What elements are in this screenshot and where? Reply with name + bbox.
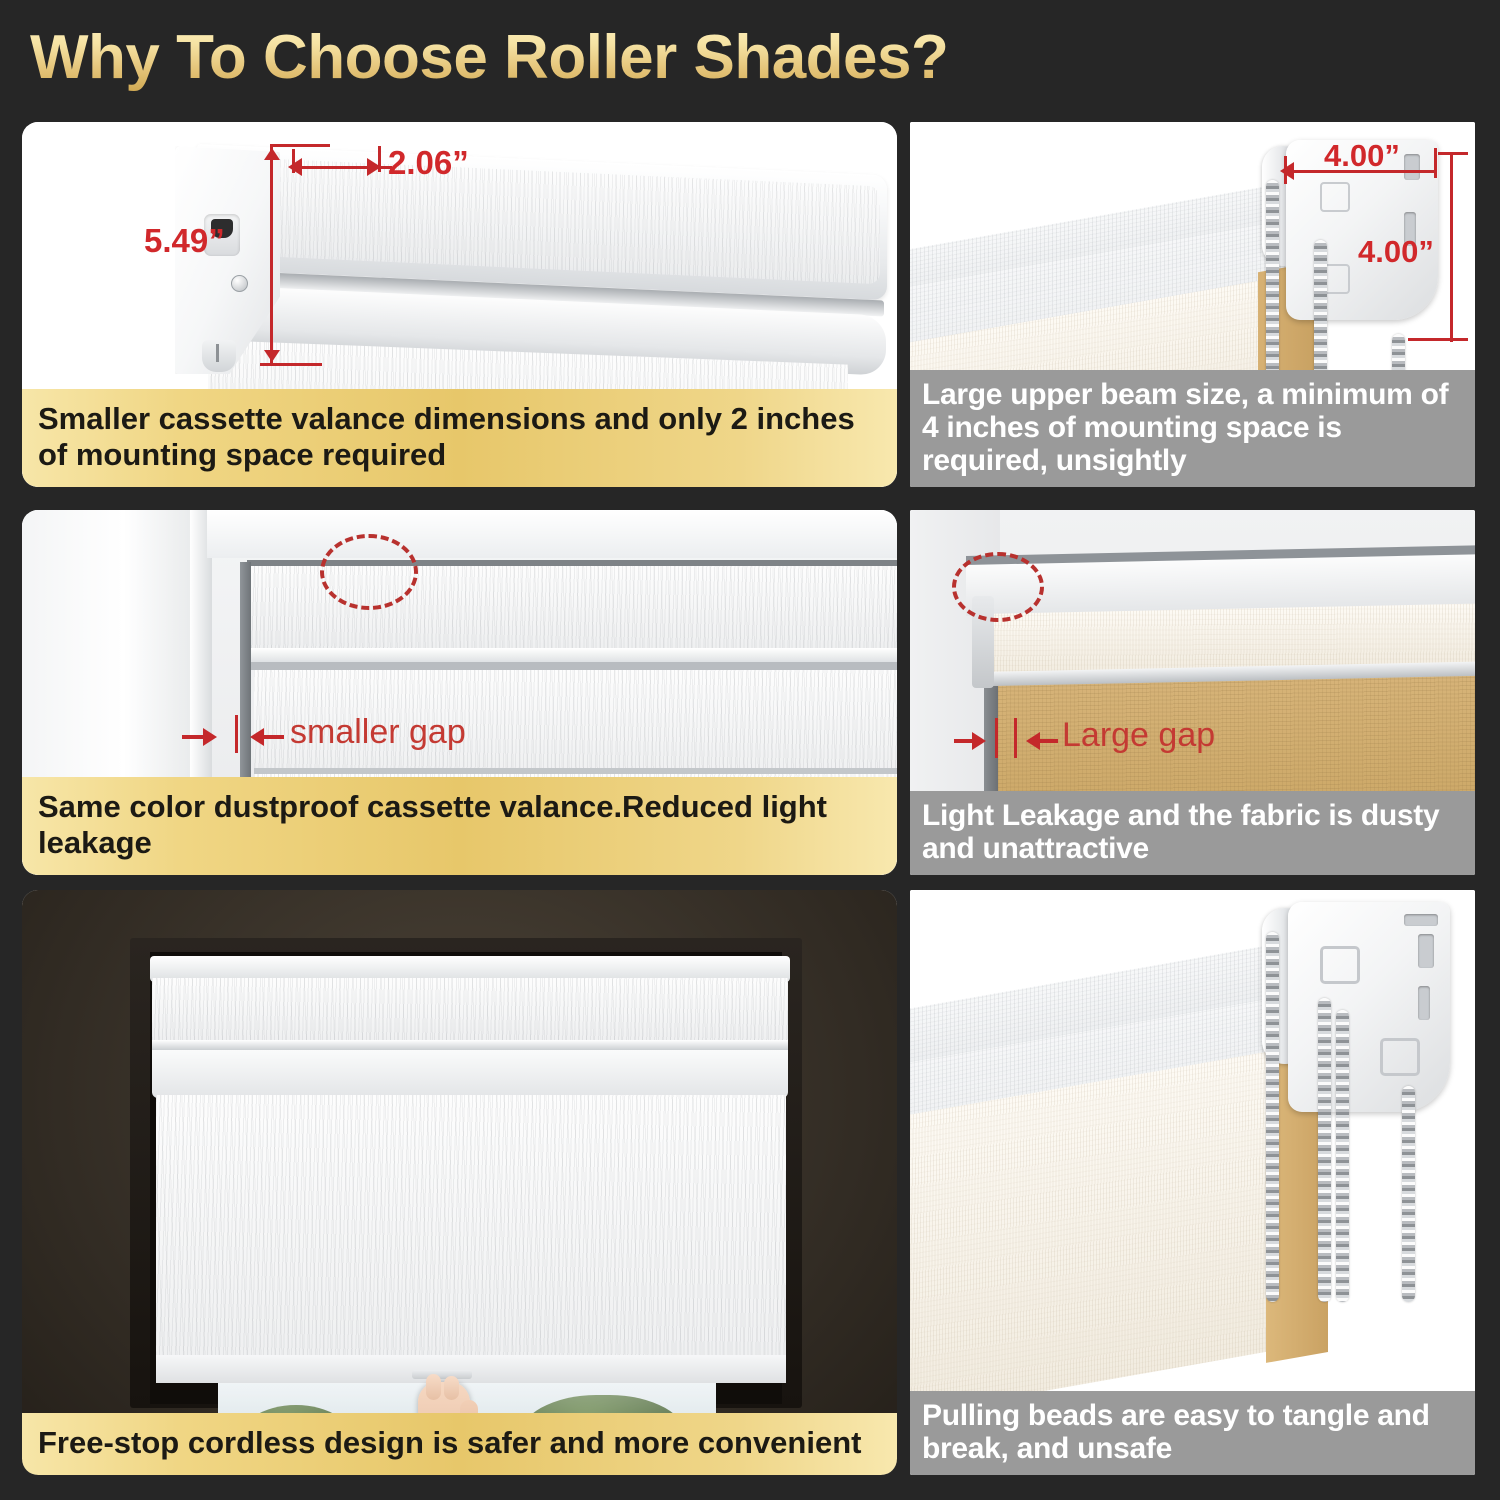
panel-pulling-beads: Pulling beads are easy to tangle and bre… xyxy=(910,890,1475,1475)
bead-chain-4 xyxy=(1402,1086,1415,1302)
panel-large-gap-caption: Light Leakage and the fabric is dusty an… xyxy=(910,791,1475,875)
dim-arrow-right-width xyxy=(367,158,381,176)
highlight-ring-large-gap xyxy=(952,552,1044,622)
gap-label: smaller gap xyxy=(290,713,466,752)
dimension-width-label: 2.06” xyxy=(388,144,469,182)
bead-chain-1 xyxy=(1266,932,1279,1302)
panel-cordless-design-caption: Free-stop cordless design is safer and m… xyxy=(22,1413,897,1475)
dimension-height-label: 5.49” xyxy=(144,222,225,260)
dimension-width-label: 4.00” xyxy=(1324,138,1400,174)
panel-large-upper-beam: 4.00” 4.00” Large upper beam size, a min… xyxy=(910,122,1475,487)
highlight-ring-smaller-gap xyxy=(320,534,418,610)
gap-label: Large gap xyxy=(1062,716,1215,755)
dim-arrow-up-height xyxy=(264,148,280,160)
panel-cassette-dimensions: 2.06” 5.49” Smaller cassette valance dim… xyxy=(22,122,897,487)
dimension-height-label: 4.00” xyxy=(1358,234,1434,270)
dim-arrow-down-height xyxy=(264,350,280,362)
bead-chain-2 xyxy=(1318,998,1331,1302)
panel-pulling-beads-caption: Pulling beads are easy to tangle and bre… xyxy=(910,1391,1475,1475)
page-title: Why To Choose Roller Shades? xyxy=(30,22,1130,94)
panel-cordless-design: Free-stop cordless design is safer and m… xyxy=(22,890,897,1475)
panel-large-gap: Large gap Light Leakage and the fabric i… xyxy=(910,510,1475,875)
panel-smaller-gap: smaller gap Same color dustproof cassett… xyxy=(22,510,897,875)
panel-smaller-gap-caption: Same color dustproof cassette valance.Re… xyxy=(22,777,897,875)
panel-large-upper-beam-caption: Large upper beam size, a minimum of 4 in… xyxy=(910,370,1475,487)
cordless-design-photo xyxy=(22,890,897,1475)
pulling-beads-photo xyxy=(910,890,1475,1475)
dim-arrow-left-width xyxy=(288,158,302,176)
panel-cassette-dimensions-caption: Smaller cassette valance dimensions and … xyxy=(22,389,897,487)
bead-chain-3 xyxy=(1336,1010,1349,1302)
